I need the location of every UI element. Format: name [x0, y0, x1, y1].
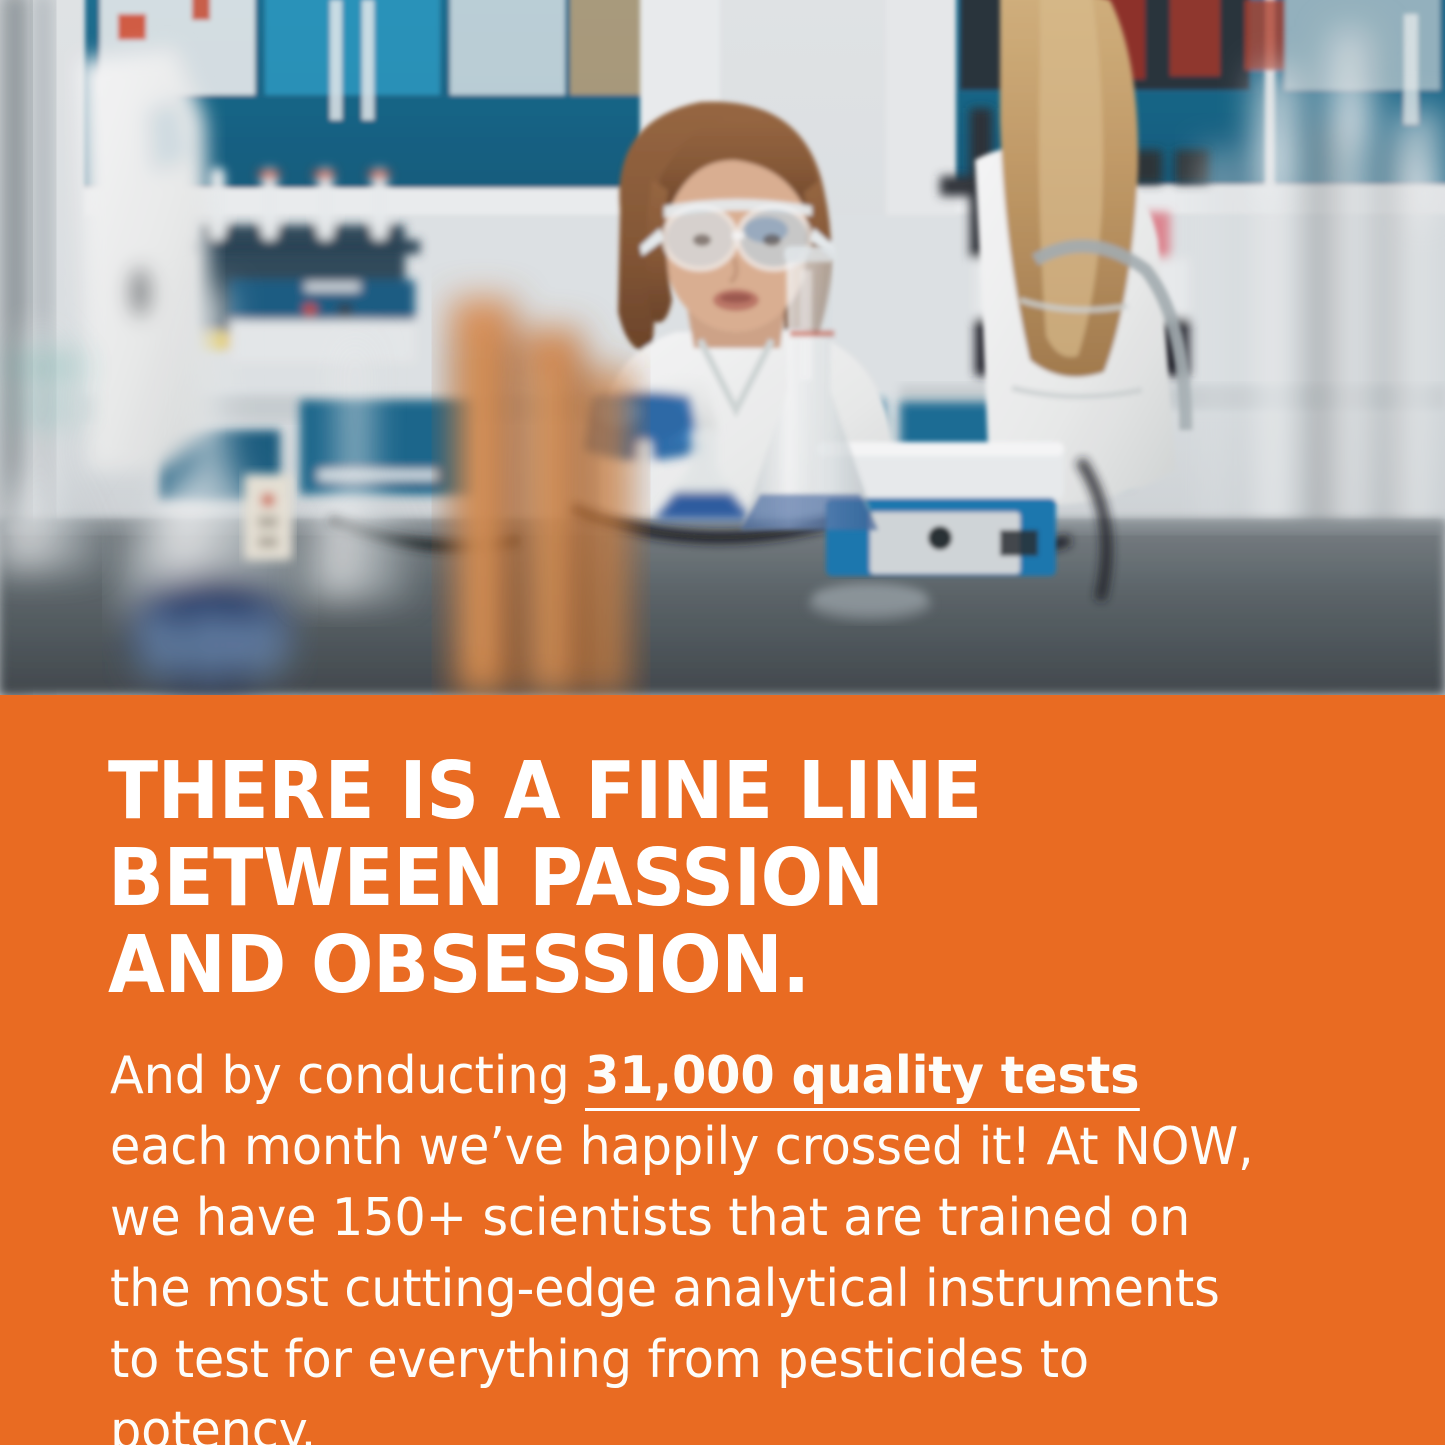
body-copy: And by conducting 31,000 quality tests e…	[110, 1041, 1264, 1445]
lab-photo: 500	[0, 0, 1445, 695]
stat-emphasis: 31,000 quality tests	[585, 1046, 1139, 1111]
body-rest: each month we’ve happily crossed it! At …	[110, 1117, 1254, 1445]
promo-card: 500	[0, 0, 1445, 1445]
page-title: THERE IS A FINE LINE BETWEEN PASSION AND…	[108, 748, 1233, 1009]
body-lead: And by conducting	[110, 1046, 585, 1106]
lab-photo-illustration: 500	[0, 0, 1445, 695]
